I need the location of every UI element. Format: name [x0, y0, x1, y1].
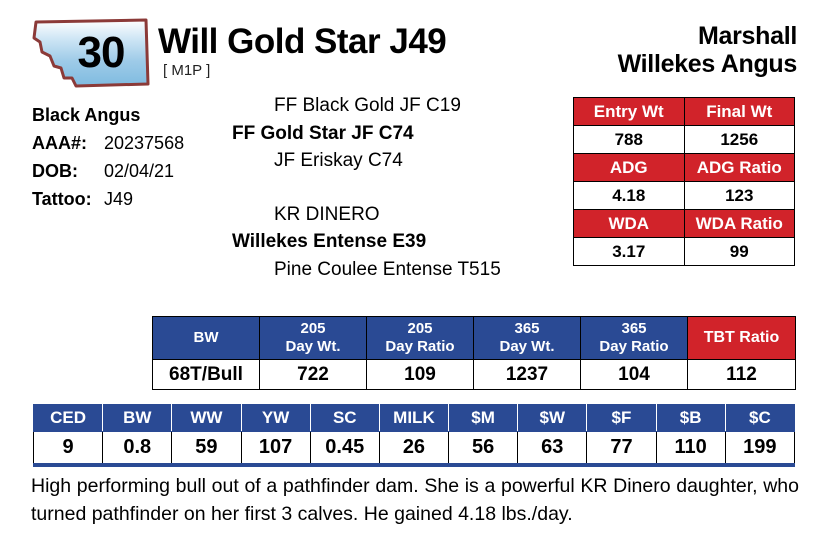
bw-value: 68T/Bull	[153, 360, 260, 390]
table-row-values: 68T/Bull 722 109 1237 104 112	[153, 360, 796, 390]
epd-header-w: $W	[518, 405, 587, 432]
epd-table: CED BW WW YW SC MILK $M $W $F $B $C 9 0.…	[33, 404, 795, 467]
tattoo-label: Tattoo:	[32, 189, 104, 210]
tbt-ratio-header: TBT Ratio	[688, 317, 796, 360]
epd-header-bw: BW	[103, 405, 172, 432]
epd-header-m: $M	[449, 405, 518, 432]
adg-header: ADG	[574, 154, 685, 182]
table-row: ADG ADG Ratio	[574, 154, 795, 182]
table-row-values: 9 0.8 59 107 0.45 26 56 63 77 110 199	[34, 432, 795, 466]
wda-header: WDA	[574, 210, 685, 238]
epd-header-ced: CED	[34, 405, 103, 432]
epd-header-sc: SC	[310, 405, 379, 432]
entry-wt-value: 788	[574, 126, 685, 154]
epd-header-ww: WW	[172, 405, 241, 432]
table-row: 3.17 99	[574, 238, 795, 266]
wt205-value: 722	[260, 360, 367, 390]
lot-number-badge: 30	[28, 16, 152, 90]
epd-value-m: 56	[449, 432, 518, 466]
table-row: WDA WDA Ratio	[574, 210, 795, 238]
sire-dam: JF Eriskay C74	[232, 147, 562, 175]
pedigree-spacer	[232, 175, 562, 201]
performance-table: Entry Wt Final Wt 788 1256 ADG ADG Ratio…	[573, 97, 795, 266]
epd-value-ced: 9	[34, 432, 103, 466]
table-row-header: BW 205 Day Wt. 205 Day Ratio 365 Day Wt.…	[153, 317, 796, 360]
table-row: 4.18 123	[574, 182, 795, 210]
epd-value-bw: 0.8	[103, 432, 172, 466]
wt365-value: 1237	[474, 360, 581, 390]
dam-sire: KR DINERO	[232, 201, 562, 229]
epd-value-sc: 0.45	[310, 432, 379, 466]
adg-ratio-value: 123	[684, 182, 795, 210]
wda-ratio-header: WDA Ratio	[684, 210, 795, 238]
lot-number-text: 30	[28, 16, 152, 90]
wt205-header: 205 Day Wt.	[260, 317, 367, 360]
adg-ratio-header: ADG Ratio	[684, 154, 795, 182]
entry-wt-header: Entry Wt	[574, 98, 685, 126]
breed-label: Black Angus	[32, 105, 252, 126]
epd-value-yw: 107	[241, 432, 310, 466]
ratio365-header: 365 Day Ratio	[581, 317, 688, 360]
dob-value: 02/04/21	[104, 161, 174, 181]
final-wt-header: Final Wt	[684, 98, 795, 126]
epd-value-b: 110	[656, 432, 725, 466]
ranch-name-line1: Marshall	[618, 22, 797, 50]
ratio365-value: 104	[581, 360, 688, 390]
wt205-header-line1: 205	[260, 320, 366, 338]
animal-info-block: Black Angus AAA#:20237568 DOB:02/04/21 T…	[32, 105, 252, 217]
dam-dam: Pine Coulee Entense T515	[232, 256, 562, 284]
epd-header-f: $F	[587, 405, 656, 432]
adg-value: 4.18	[574, 182, 685, 210]
epd-header-milk: MILK	[379, 405, 448, 432]
ranch-name: Marshall Willekes Angus	[618, 22, 797, 78]
table-row: 788 1256	[574, 126, 795, 154]
info-row-dob: DOB:02/04/21	[32, 161, 252, 182]
bw-header: BW	[153, 317, 260, 360]
wt205-header-line2: Day Wt.	[260, 338, 366, 356]
wt365-header: 365 Day Wt.	[474, 317, 581, 360]
table-row: Entry Wt Final Wt	[574, 98, 795, 126]
epd-value-ww: 59	[172, 432, 241, 466]
tattoo-value: J49	[104, 189, 133, 209]
sire-sire: FF Black Gold JF C19	[232, 92, 562, 120]
final-wt-value: 1256	[684, 126, 795, 154]
dam: Willekes Entense E39	[232, 228, 562, 256]
sire: FF Gold Star JF C74	[232, 120, 562, 148]
epd-value-c: 199	[725, 432, 794, 466]
info-row-registration: AAA#:20237568	[32, 133, 252, 154]
table-row-header: CED BW WW YW SC MILK $M $W $F $B $C	[34, 405, 795, 432]
epd-header-b: $B	[656, 405, 725, 432]
ratio205-header-line2: Day Ratio	[367, 338, 473, 356]
pedigree-block: FF Black Gold JF C19 FF Gold Star JF C74…	[232, 92, 562, 283]
registration-value: 20237568	[104, 133, 184, 153]
wda-value: 3.17	[574, 238, 685, 266]
ratio205-value: 109	[367, 360, 474, 390]
wt365-header-line1: 365	[474, 320, 580, 338]
growth-table: BW 205 Day Wt. 205 Day Ratio 365 Day Wt.…	[152, 316, 796, 390]
epd-value-w: 63	[518, 432, 587, 466]
page-title: Will Gold Star J49	[158, 22, 446, 62]
ranch-name-line2: Willekes Angus	[618, 50, 797, 78]
page-header: 30 Will Gold Star J49 [ M1P ] Marshall W…	[0, 0, 825, 92]
wda-ratio-value: 99	[684, 238, 795, 266]
wt365-header-line2: Day Wt.	[474, 338, 580, 356]
epd-value-milk: 26	[379, 432, 448, 466]
tbt-ratio-value: 112	[688, 360, 796, 390]
ratio365-header-line2: Day Ratio	[581, 338, 687, 356]
info-row-tattoo: Tattoo:J49	[32, 189, 252, 210]
epd-header-yw: YW	[241, 405, 310, 432]
epd-header-c: $C	[725, 405, 794, 432]
animal-tag: [ M1P ]	[163, 62, 210, 79]
ratio205-header: 205 Day Ratio	[367, 317, 474, 360]
ratio205-header-line1: 205	[367, 320, 473, 338]
dob-label: DOB:	[32, 161, 104, 182]
registration-label: AAA#:	[32, 133, 104, 154]
ratio365-header-line1: 365	[581, 320, 687, 338]
lot-description: High performing bull out of a pathfinder…	[31, 473, 799, 528]
epd-value-f: 77	[587, 432, 656, 466]
bw-header-line1: BW	[153, 329, 259, 347]
